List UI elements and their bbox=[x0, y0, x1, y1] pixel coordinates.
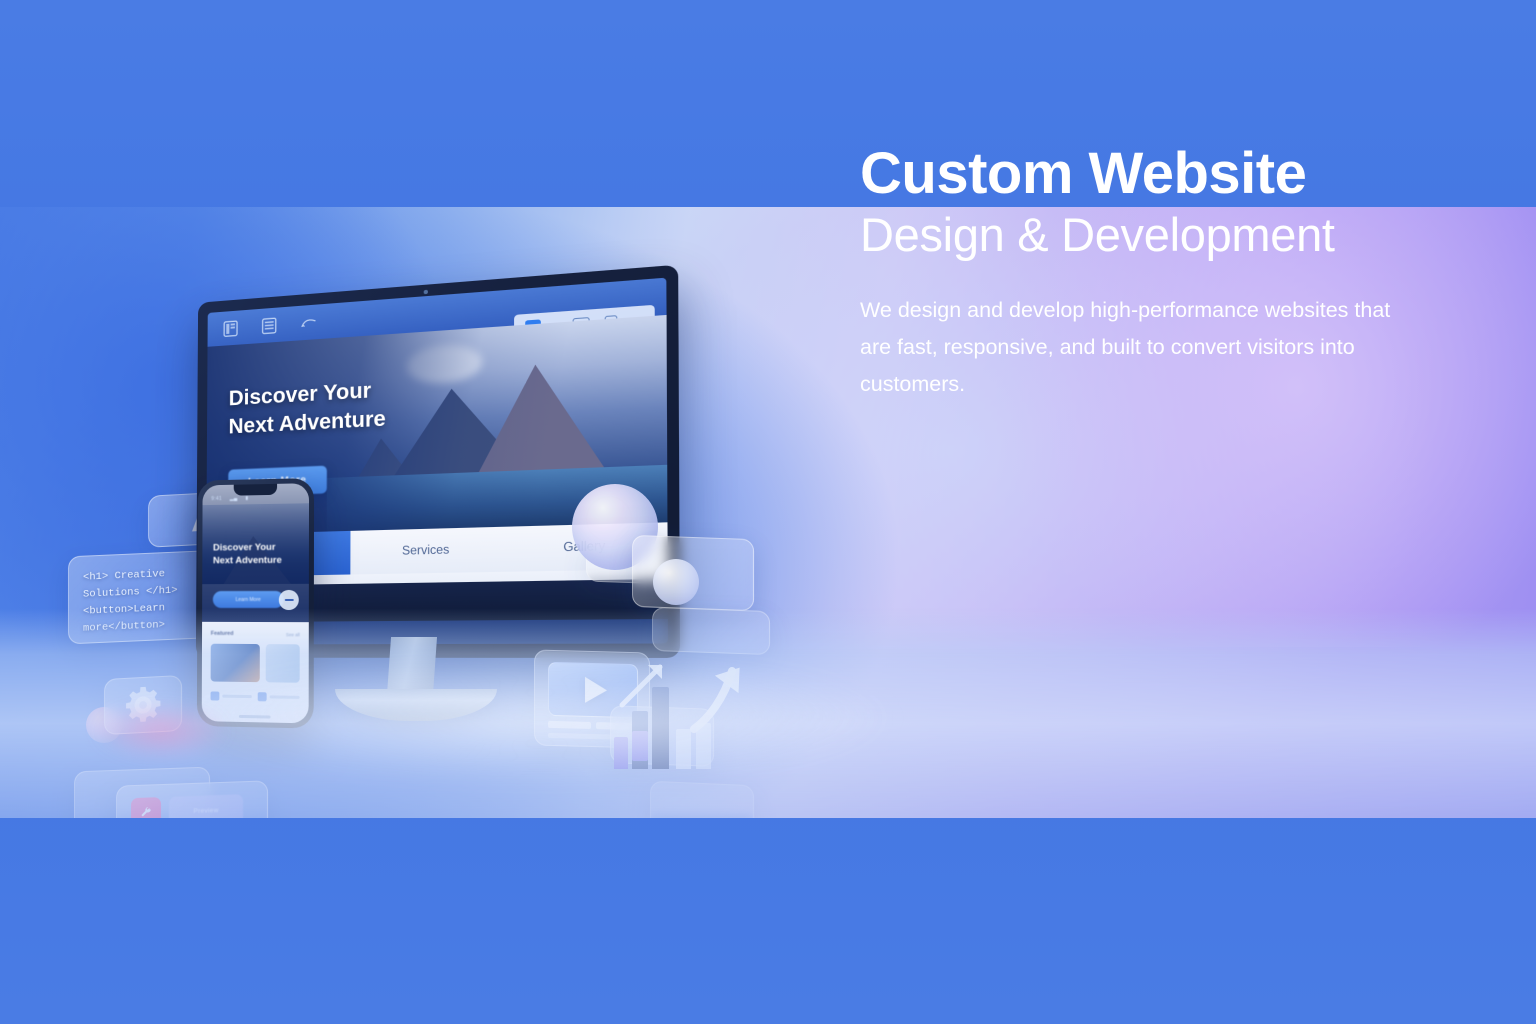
page-subtitle: Design & Development bbox=[860, 203, 1460, 266]
webcam-icon bbox=[424, 290, 428, 295]
floor-pink-reflection bbox=[96, 704, 226, 758]
hero-copy-block: Custom Website Design & Development We d… bbox=[860, 145, 1460, 403]
phone-hero-title-line2: Next Adventure bbox=[213, 554, 282, 567]
hero-description: We design and develop high-performance w… bbox=[860, 292, 1405, 403]
phone-status-time: 9:41 bbox=[211, 496, 222, 502]
gradient-sphere-medium bbox=[653, 559, 699, 605]
phone-hero-title: Discover Your Next Adventure bbox=[213, 542, 282, 568]
phone-status-battery-icon: ▮ bbox=[245, 495, 248, 501]
phone-status-signal-icon: ▂▄ bbox=[230, 496, 238, 502]
layout-panel-icon[interactable] bbox=[223, 319, 238, 337]
site-hero-title: Discover Your Next Adventure bbox=[228, 376, 385, 441]
phone-hero-title-line1: Discover Your bbox=[213, 542, 282, 555]
phone-notch bbox=[234, 484, 277, 496]
floor-light-reflection bbox=[180, 658, 900, 778]
nav-item-services[interactable]: Services bbox=[350, 527, 504, 575]
phone-cta-button[interactable]: Learn More bbox=[213, 591, 284, 608]
page-title: Custom Website bbox=[860, 145, 1460, 203]
phone-hero-section: 9:41 ▂▄ ▮ Discover Your Next Adventure L… bbox=[202, 483, 309, 622]
list-view-icon[interactable] bbox=[262, 316, 277, 334]
pen-curve-icon[interactable] bbox=[301, 313, 316, 331]
